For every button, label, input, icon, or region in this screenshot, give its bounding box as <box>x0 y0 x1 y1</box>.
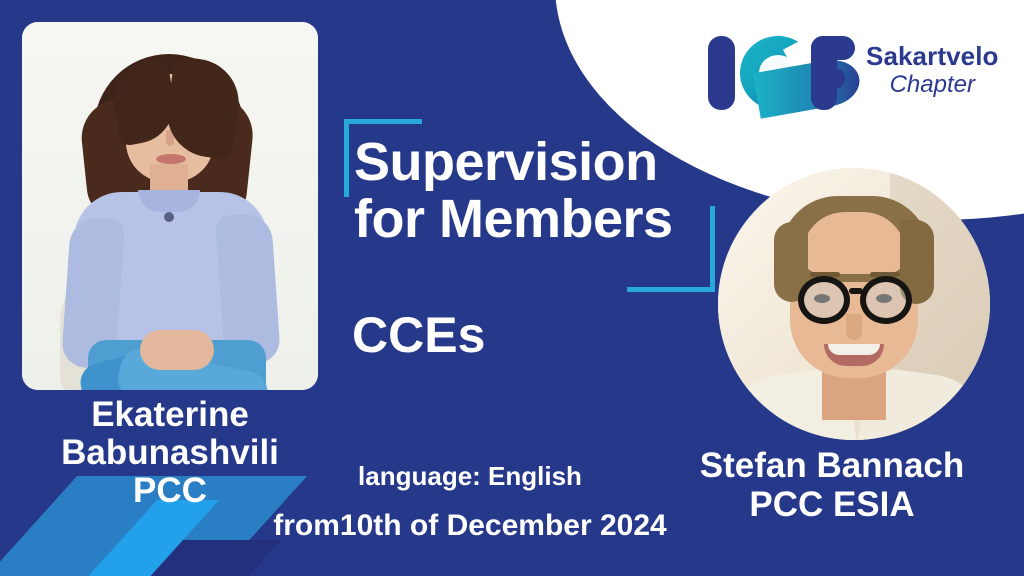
icf-logomark-icon <box>700 24 850 116</box>
speaker-left-name: Ekaterine Babunashvili PCC <box>10 396 330 510</box>
speaker-left-photo <box>22 22 318 390</box>
speaker-right-name-line-1: Stefan Bannach <box>640 446 1024 485</box>
event-date: from10th of December 2024 <box>248 509 692 542</box>
page-title: Supervision for Members <box>354 134 724 247</box>
speaker-left-name-line-1: Ekaterine <box>10 396 330 434</box>
poster-canvas: Sakartvelo Chapter Supervision for Membe… <box>0 0 1024 576</box>
title-line-1: Supervision <box>354 134 724 191</box>
speaker-left-name-line-2: Babunashvili <box>10 434 330 472</box>
speaker-right-name: Stefan Bannach PCC ESIA <box>640 446 1024 524</box>
speaker-right-credential: PCC ESIA <box>640 485 1024 524</box>
chapter-word: Chapter <box>866 72 999 99</box>
chapter-name: Sakartvelo <box>866 42 999 71</box>
portrait-illustration-left <box>22 22 318 390</box>
icf-logo: Sakartvelo Chapter <box>700 24 999 116</box>
logo-wordmark: Sakartvelo Chapter <box>866 42 999 99</box>
speaker-left-credential: PCC <box>10 472 330 510</box>
speaker-right-photo <box>718 168 990 440</box>
page-subtitle: CCEs <box>352 306 485 364</box>
title-line-2: for Members <box>354 191 724 248</box>
